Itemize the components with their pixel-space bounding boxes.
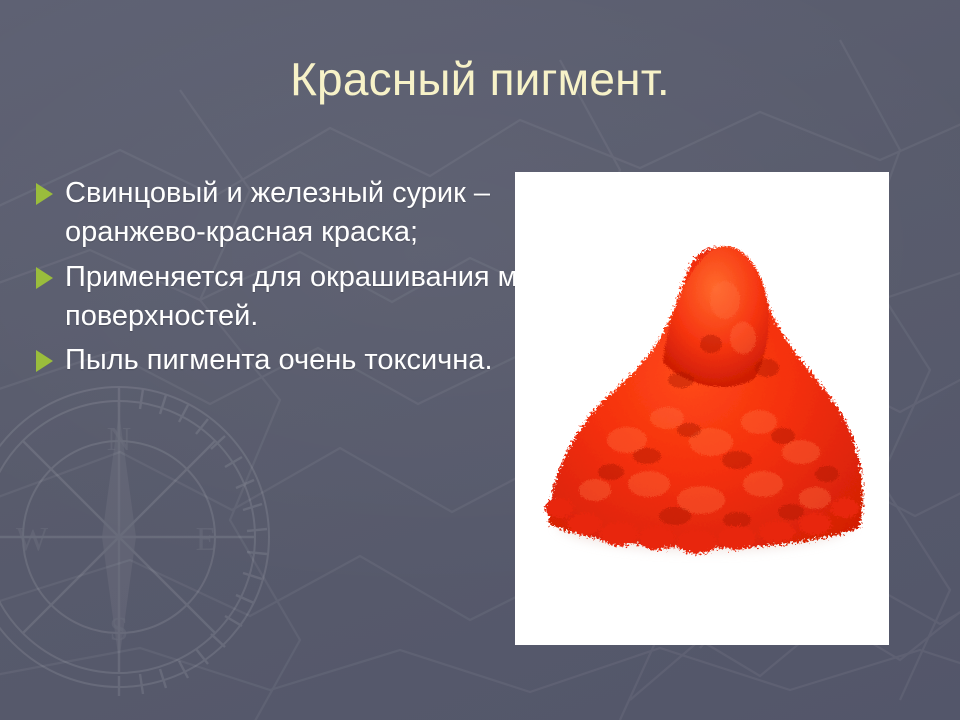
compass-label-east: E — [196, 521, 217, 558]
pigment-pile-graphic — [515, 172, 889, 645]
bullet-text: Свинцовый и железный сурик – оранжево-кр… — [65, 174, 490, 252]
pigment-photo — [515, 172, 889, 645]
slide-title: Красный пигмент. — [60, 55, 900, 104]
triangle-bullet-icon — [36, 183, 53, 205]
compass-label-south: S — [110, 611, 129, 648]
triangle-bullet-icon — [36, 350, 53, 372]
compass-label-west: W — [16, 521, 49, 558]
triangle-bullet-icon — [36, 267, 53, 289]
bullet-text: Пыль пигмента очень токсична. — [65, 341, 493, 380]
pigment-powder-pile-image — [515, 172, 889, 645]
compass-label-north: N — [107, 421, 132, 458]
presentation-slide: N S E W Красный пигмент. Свинцовый и жел… — [0, 0, 960, 720]
compass-rose-watermark: N S E W — [0, 372, 284, 702]
